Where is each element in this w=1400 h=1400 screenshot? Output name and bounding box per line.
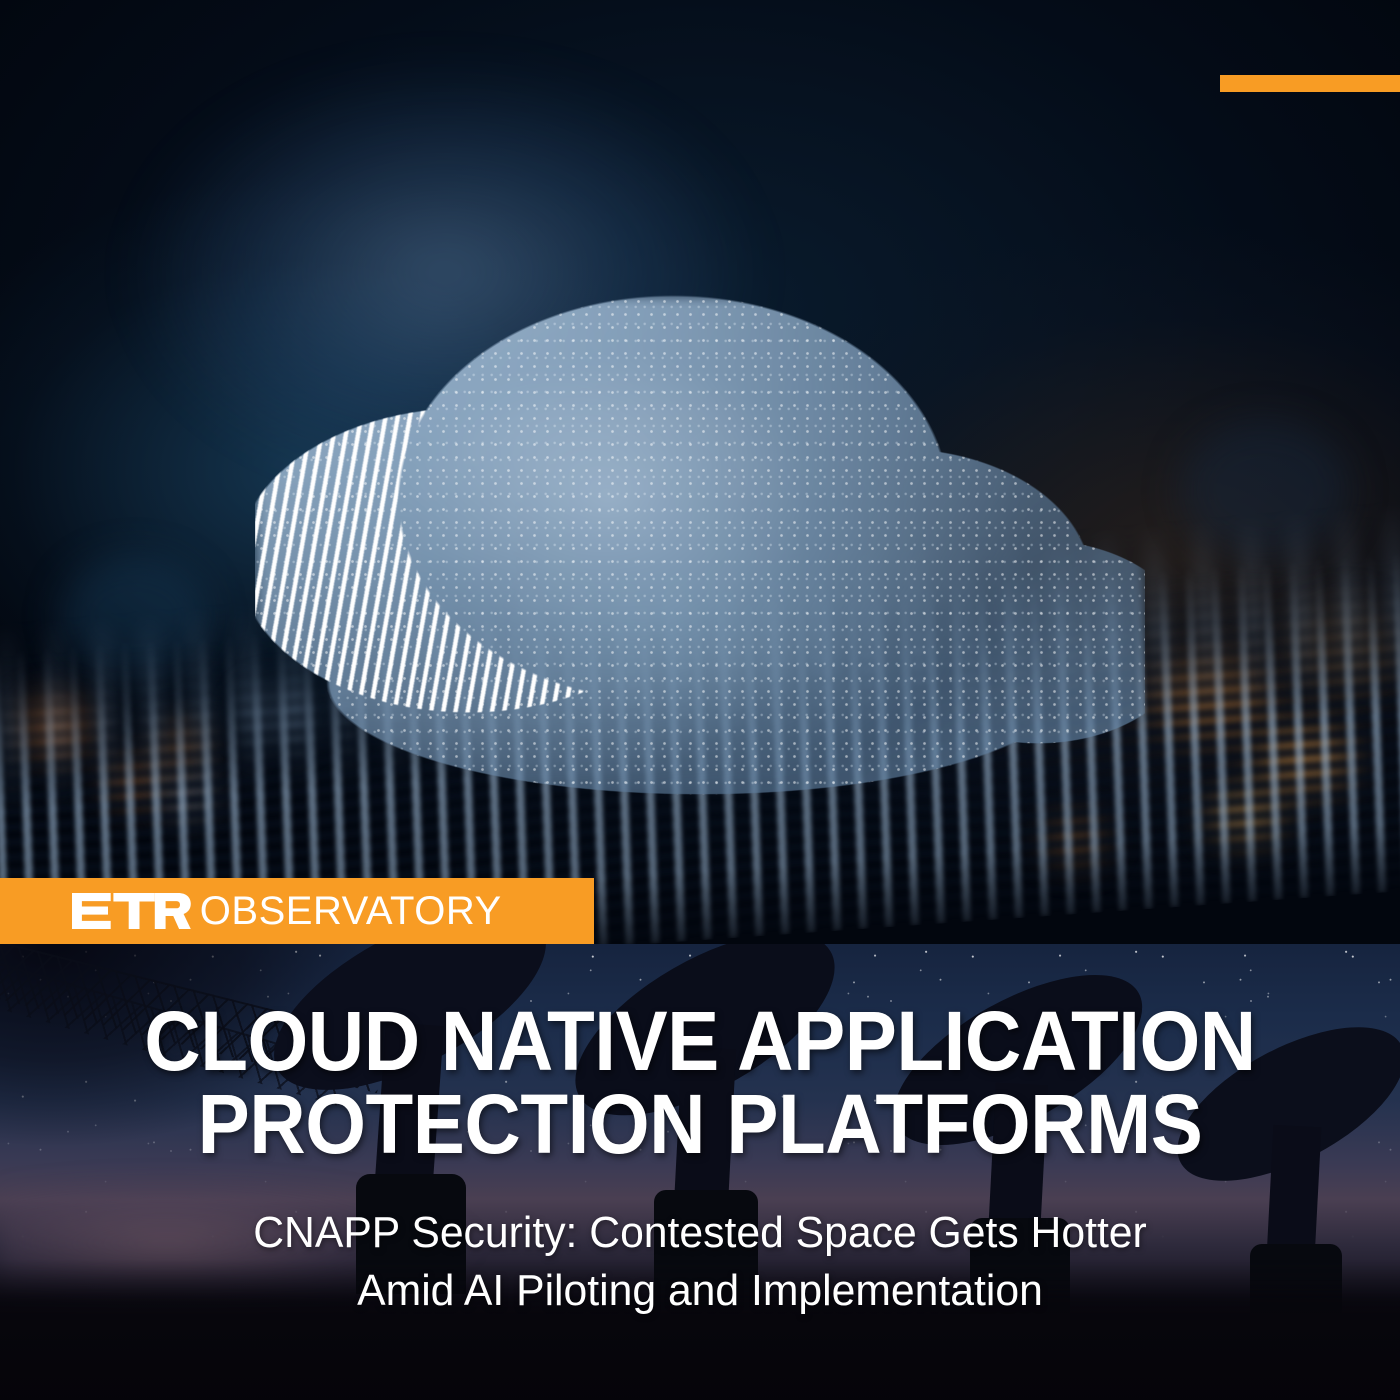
cloud-rim-light (255, 295, 1145, 805)
page-title: CLOUD NATIVE APPLICATION PROTECTION PLAT… (49, 1000, 1351, 1166)
page-title-line-1: CLOUD NATIVE APPLICATION (144, 994, 1255, 1088)
top-accent-bar (1220, 75, 1400, 92)
hero-cloud-image (0, 0, 1400, 944)
page-subtitle: CNAPP Security: Contested Space Gets Hot… (21, 1204, 1379, 1320)
text-block: CLOUD NATIVE APPLICATION PROTECTION PLAT… (0, 1000, 1400, 1320)
page-subtitle-line-2: Amid AI Piloting and Implementation (357, 1266, 1043, 1315)
page-title-line-2: PROTECTION PLATFORMS (198, 1077, 1203, 1171)
brand-banner: OBSERVATORY (0, 878, 594, 944)
poster-canvas: OBSERVATORY CLOUD NATIVE APPLICATION PRO… (0, 0, 1400, 1400)
etr-logo-icon (72, 893, 191, 929)
particle-cloud (255, 295, 1145, 805)
page-subtitle-line-1: CNAPP Security: Contested Space Gets Hot… (253, 1208, 1147, 1257)
brand-word-observatory: OBSERVATORY (200, 891, 502, 931)
